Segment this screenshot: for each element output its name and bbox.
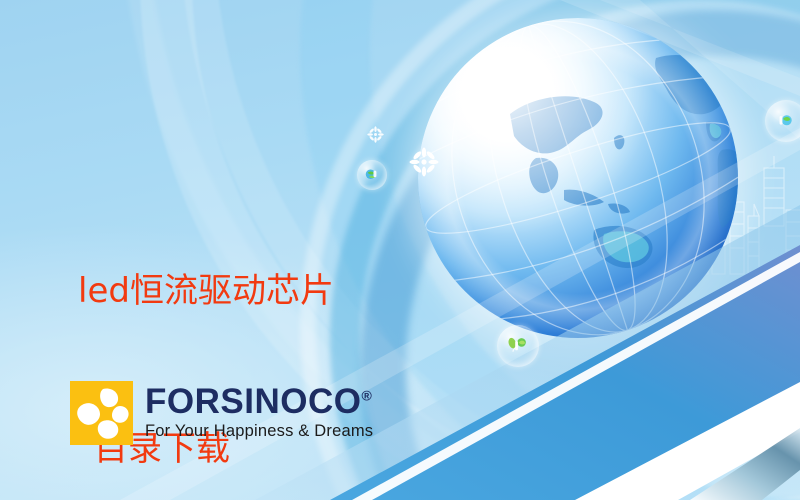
- headline-line-1: led恒流驱动芯片: [78, 265, 498, 318]
- logo-wordmark-text: FORSINOCO: [145, 382, 361, 421]
- bubble-edge-inner-icon: [771, 106, 800, 136]
- bubble-leaf-inner-icon: [503, 331, 533, 361]
- page-title: led恒流驱动芯片 目录下载: [78, 160, 498, 500]
- pinwheel-petals-icon: [70, 381, 133, 445]
- logo-text-block: FORSINOCO® For Your Happiness & Dreams: [145, 381, 373, 440]
- company-logo: FORSINOCO® For Your Happiness & Dreams: [70, 381, 373, 445]
- bubble-leaf: [497, 325, 539, 367]
- banner-canvas: led恒流驱动芯片 目录下载 FORSINOCO® For Your Happi…: [0, 0, 800, 500]
- forsinoco-mark-icon: [70, 381, 133, 445]
- registered-trademark-icon: ®: [361, 387, 372, 403]
- bubble-edge: [765, 100, 800, 142]
- logo-tagline: For Your Happiness & Dreams: [145, 422, 373, 440]
- logo-wordmark: FORSINOCO®: [145, 384, 372, 419]
- flower-sparkle-small-icon: [367, 126, 384, 143]
